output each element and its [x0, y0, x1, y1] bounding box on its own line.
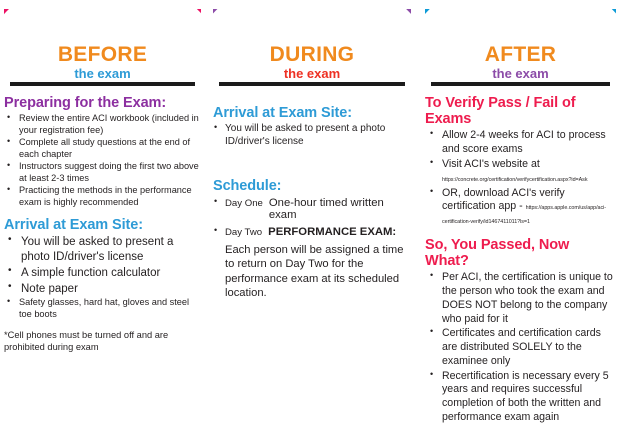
list-so-you-passed: Per ACI, the certification is unique to … [425, 271, 616, 424]
heading-schedule: Schedule: [213, 178, 411, 194]
list-item: Note paper [4, 282, 201, 297]
column-before: BEFORE the exam Preparing for the Exam: … [0, 0, 207, 409]
heading-arrival-at-exam-site: Arrival at Exam Site: [213, 105, 411, 121]
list-item: A simple function calculator [4, 266, 201, 281]
content-during: Arrival at Exam Site: You will be asked … [213, 86, 411, 301]
list-item-text: Visit ACI's website at [442, 158, 540, 170]
list-verify-pass-fail: Allow 2-4 weeks for ACI to process and s… [425, 129, 616, 227]
column-during: DURING the exam Arrival at Exam Site: Yo… [207, 0, 419, 409]
heading-verify-pass-fail: To Verify Pass / Fail of Exams [425, 95, 616, 127]
banner-title-during: DURING [270, 44, 355, 65]
list-arrival-at-exam-site: You will be asked to present a photo ID/… [4, 235, 201, 320]
list-item: Complete all study questions at the end … [4, 137, 201, 160]
banner-subtitle-after: the exam [492, 67, 548, 81]
column-after: AFTER the exam To Verify Pass / Fail of … [419, 0, 620, 409]
schedule-paragraph: Each person will be assigned a time to r… [213, 243, 411, 301]
heading-arrival-at-exam-site: Arrival at Exam Site: [4, 217, 201, 233]
list-item: You will be asked to present a photo ID/… [4, 235, 201, 264]
banner-subtitle-before: the exam [74, 67, 130, 81]
banner-subtitle-during: the exam [284, 67, 340, 81]
list-item-with-url: Visit ACI's website at https://concrete.… [425, 158, 616, 186]
schedule-row-day-two: Day Two PERFORMANCE EXAM: [213, 226, 411, 238]
list-item: Certificates and certification cards are… [425, 327, 616, 368]
schedule-day-value: One-hour timed written exam [269, 197, 411, 221]
list-item: Recertification is necessary every 5 yea… [425, 370, 616, 425]
banner-during: DURING the exam [213, 9, 411, 81]
list-item: Safety glasses, hard hat, gloves and ste… [4, 297, 201, 320]
list-item-with-url: OR, download ACI's verify certification … [425, 187, 616, 228]
schedule-day-value: PERFORMANCE EXAM: [268, 226, 396, 238]
heading-so-you-passed: So, You Passed, Now What? [425, 237, 616, 269]
content-before: Preparing for the Exam: Review the entir… [4, 86, 201, 354]
list-item: Allow 2-4 weeks for ACI to process and s… [425, 129, 616, 157]
banner-after: AFTER the exam [425, 9, 616, 81]
content-after: To Verify Pass / Fail of Exams Allow 2-4… [425, 86, 616, 425]
banner-before: BEFORE the exam [4, 9, 201, 81]
banner-title-after: AFTER [485, 44, 557, 65]
list-item: Review the entire ACI workbook (included… [4, 113, 201, 136]
list-item: Per ACI, the certification is unique to … [425, 271, 616, 326]
banner-title-before: BEFORE [58, 44, 147, 65]
heading-preparing-for-exam: Preparing for the Exam: [4, 95, 201, 111]
schedule-row-day-one: Day One One-hour timed written exam [213, 197, 411, 221]
infographic-board: BEFORE the exam Preparing for the Exam: … [0, 0, 620, 409]
list-item: Practicing the methods in the performanc… [4, 185, 201, 208]
schedule-day-label: Day Two [225, 227, 262, 238]
schedule-day-label: Day One [225, 198, 263, 209]
list-item: Instructors suggest doing the first two … [4, 161, 201, 184]
footnote-cell-phones: *Cell phones must be turned off and are … [4, 329, 201, 353]
list-preparing-for-exam: Review the entire ACI workbook (included… [4, 113, 201, 208]
list-arrival-during: You will be asked to present a photo ID/… [213, 123, 411, 148]
list-item: You will be asked to present a photo ID/… [213, 123, 411, 148]
verify-certification-url[interactable]: https://concrete.org/certification/verif… [442, 177, 587, 183]
